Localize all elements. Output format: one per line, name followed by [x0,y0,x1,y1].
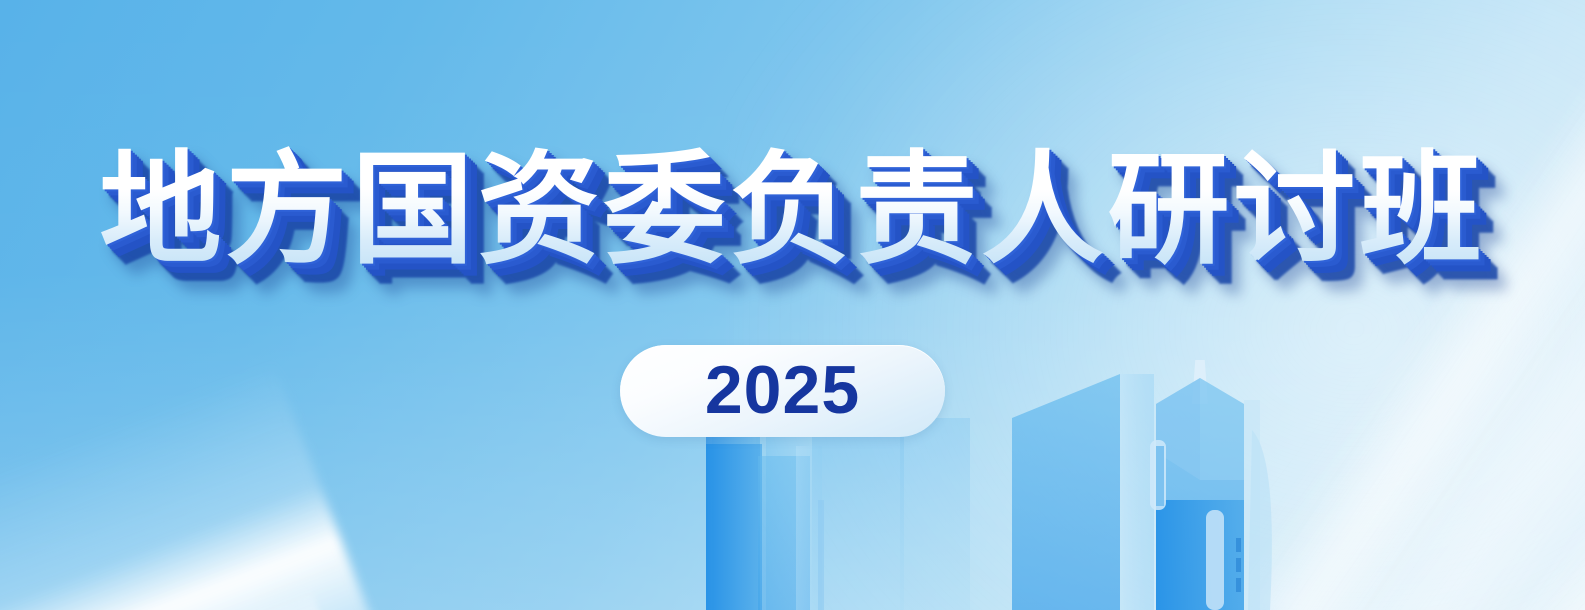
building-group-mid [812,418,970,610]
banner: 地方国资委负责人研讨班 2025 [0,0,1585,610]
building-group-center [1012,374,1154,610]
year-badge-label: 2025 [705,356,860,424]
year-badge: 2025 [620,345,945,437]
building-group-spire-tower [1150,360,1244,610]
